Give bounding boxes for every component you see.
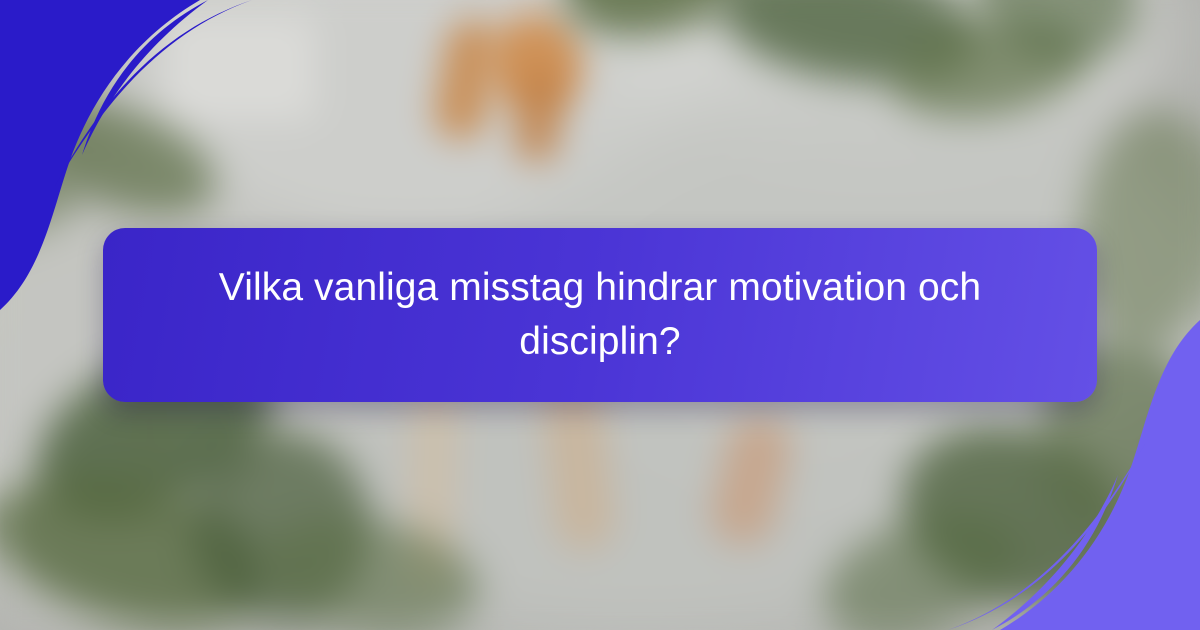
page-title: Vilka vanliga misstag hindrar motivation… xyxy=(205,261,995,369)
title-banner: Vilka vanliga misstag hindrar motivation… xyxy=(103,228,1097,402)
social-share-card: Vilka vanliga misstag hindrar motivation… xyxy=(0,0,1200,630)
